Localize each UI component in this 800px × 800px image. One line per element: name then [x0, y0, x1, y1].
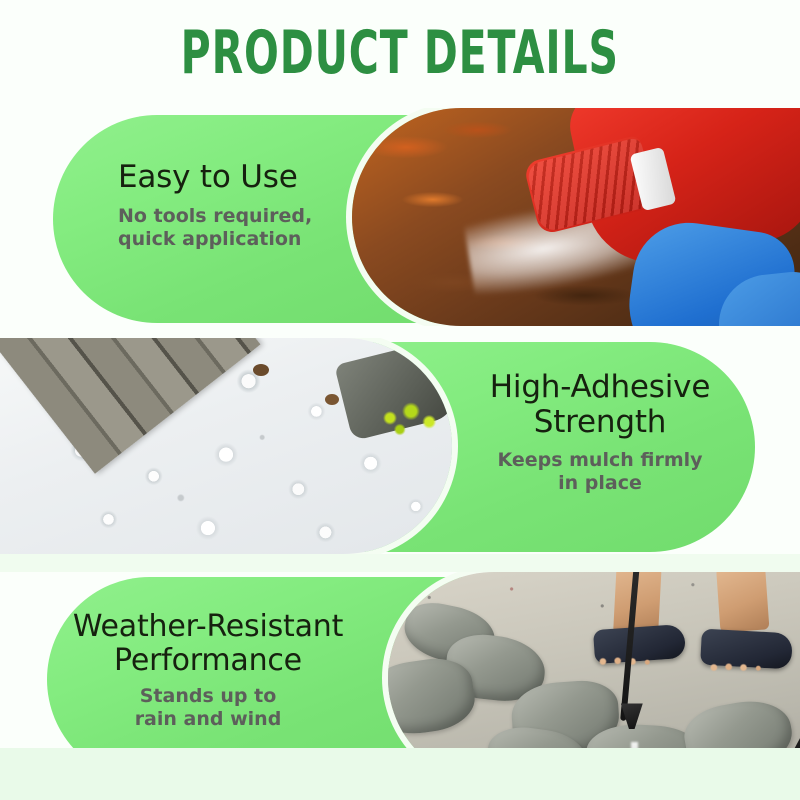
page-title: PRODUCT DETAILS — [181, 19, 619, 87]
feature-text-block-1: Easy to Use No tools required, quick app… — [118, 160, 368, 250]
feature-heading-3-line1: Weather-Resistant — [58, 610, 358, 644]
feature-subtext-3-line1: Stands up to — [58, 685, 358, 708]
feature-panel-easy-to-use: Easy to Use No tools required, quick app… — [0, 108, 800, 326]
bottom-mint-band — [0, 748, 800, 800]
feature-heading-1: Easy to Use — [118, 160, 368, 195]
feature-heading-3: Weather-Resistant Performance — [58, 610, 358, 677]
feature-subtext-2-line2: in place — [455, 472, 745, 495]
photo-inner-2 — [0, 338, 452, 554]
feature-subtext-2: Keeps mulch firmly in place — [455, 449, 745, 495]
leg-art-right — [715, 572, 769, 633]
feature-photo-high-adhesive-strength — [0, 338, 452, 554]
feature-subtext-1: No tools required, quick application — [118, 205, 368, 251]
feature-subtext-2-line1: Keeps mulch firmly — [455, 449, 745, 472]
feature-text-block-3: Weather-Resistant Performance Stands up … — [58, 610, 358, 731]
feature-heading-2-line1: High-Adhesive — [455, 370, 745, 405]
feature-subtext-1-line2: quick application — [118, 228, 368, 251]
feature-photo-easy-to-use — [352, 108, 800, 326]
feature-subtext-3-line2: rain and wind — [58, 708, 358, 731]
feature-subtext-1-line1: No tools required, — [118, 205, 368, 228]
brown-pebble-art — [253, 364, 269, 376]
panel-divider-1 — [0, 326, 800, 338]
photo-inner-1 — [352, 108, 800, 326]
panel-divider-2 — [0, 554, 800, 572]
toes-art-right — [705, 659, 779, 676]
feature-heading-3-line2: Performance — [58, 644, 358, 678]
page-title-container: PRODUCT DETAILS — [0, 20, 800, 86]
feature-subtext-3: Stands up to rain and wind — [58, 685, 358, 731]
feature-panel-high-adhesive-strength: High-Adhesive Strength Keeps mulch firml… — [0, 338, 800, 554]
feature-text-block-2: High-Adhesive Strength Keeps mulch firml… — [455, 370, 745, 495]
product-details-infographic: PRODUCT DETAILS Easy to Use No tools req… — [0, 0, 800, 800]
green-moss-art — [376, 394, 446, 442]
feature-heading-2-line2: Strength — [455, 405, 745, 440]
feature-heading-2: High-Adhesive Strength — [455, 370, 745, 439]
